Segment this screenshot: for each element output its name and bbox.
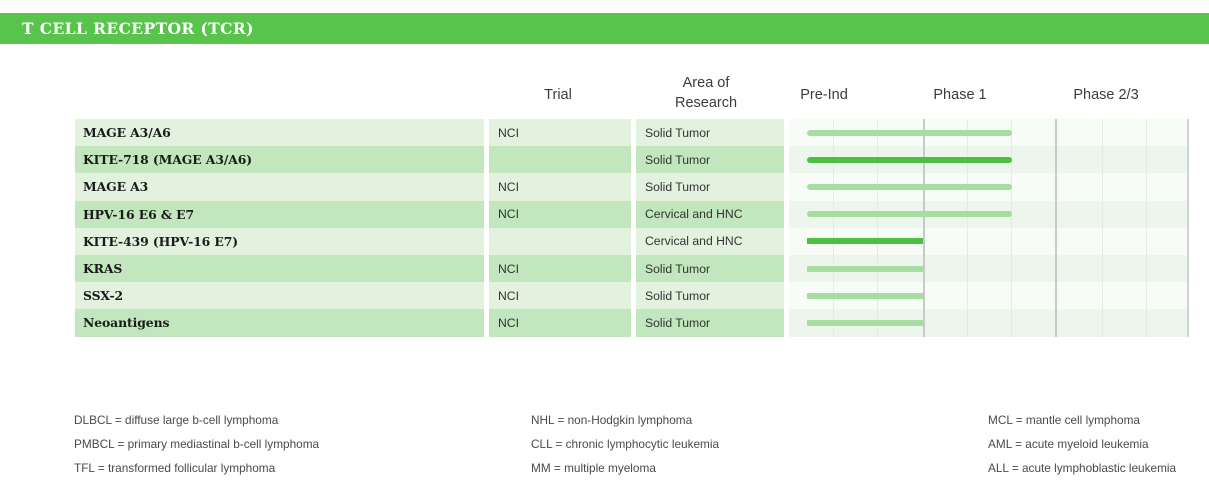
- table-row: MAGE A3NCISolid Tumor: [75, 173, 1189, 200]
- trial-cell: NCI: [489, 119, 631, 146]
- gridline: [1102, 255, 1103, 282]
- phase-progress-cell: [789, 282, 1189, 309]
- footnote-item: MM = multiple myeloma: [531, 456, 719, 480]
- footnote-item: CLL = chronic lymphocytic leukemia: [531, 432, 719, 456]
- area-of-research-cell: Solid Tumor: [636, 255, 784, 282]
- footnote-item: NHL = non-Hodgkin lymphoma: [531, 408, 719, 432]
- footnote-item: AML = acute myeloid leukemia: [988, 432, 1176, 456]
- phase-boundary-line: [923, 228, 925, 255]
- footnote-item: MCL = mantle cell lymphoma: [988, 408, 1176, 432]
- phase-progress-cell: [789, 228, 1189, 255]
- table-row: MAGE A3/A6NCISolid Tumor: [75, 119, 1189, 146]
- gridline: [1102, 146, 1103, 173]
- phase-progress-cell: [789, 119, 1189, 146]
- progress-bar: [807, 211, 1013, 217]
- gridline: [1146, 173, 1147, 200]
- trial-cell: NCI: [489, 173, 631, 200]
- program-name-cell: Neoantigens: [75, 309, 484, 336]
- gridline: [1102, 201, 1103, 228]
- footnote-item: ALL = acute lymphoblastic leukemia: [988, 456, 1176, 480]
- program-name-cell: HPV-16 E6 & E7: [75, 201, 484, 228]
- table-row: KITE-439 (HPV-16 E7)Cervical and HNC: [75, 228, 1189, 255]
- trial-cell: NCI: [489, 201, 631, 228]
- progress-bar: [807, 293, 923, 299]
- trial-cell: NCI: [489, 255, 631, 282]
- trial-cell: [489, 228, 631, 255]
- footnote-item: PMBCL = primary mediastinal b-cell lymph…: [74, 432, 319, 456]
- footnote-column-2: NHL = non-Hodgkin lymphoma CLL = chronic…: [531, 408, 719, 481]
- phase-progress-cell: [789, 255, 1189, 282]
- gridline: [1102, 119, 1103, 146]
- phase-boundary-line: [923, 255, 925, 282]
- footnote-item: TFL = transformed follicular lymphoma: [74, 456, 319, 480]
- program-title-bar: T CELL RECEPTOR (TCR): [0, 13, 1209, 44]
- phase-progress-cell: [789, 146, 1189, 173]
- gridline: [1146, 255, 1147, 282]
- phase-boundary-line: [1055, 146, 1057, 173]
- progress-bar: [807, 184, 1013, 190]
- pipeline-table: MAGE A3/A6NCISolid TumorKITE-718 (MAGE A…: [75, 119, 1189, 337]
- gridline: [967, 282, 968, 309]
- table-row: NeoantigensNCISolid Tumor: [75, 309, 1189, 336]
- area-of-research-cell: Solid Tumor: [636, 119, 784, 146]
- footnote-column-1: DLBCL = diffuse large b-cell lymphoma PM…: [74, 408, 319, 481]
- trial-cell: NCI: [489, 282, 631, 309]
- area-of-research-cell: Cervical and HNC: [636, 201, 784, 228]
- progress-bar: [807, 130, 1013, 136]
- gridline: [1102, 309, 1103, 336]
- progress-bar: [807, 320, 923, 326]
- progress-bar: [807, 266, 923, 272]
- program-name-cell: MAGE A3: [75, 173, 484, 200]
- program-name-cell: KITE-718 (MAGE A3/A6): [75, 146, 484, 173]
- area-of-research-cell: Solid Tumor: [636, 309, 784, 336]
- gridline: [1011, 255, 1012, 282]
- phase-boundary-line: [923, 309, 925, 336]
- column-header-row: Trial Area of Research Pre-Ind Phase 1 P…: [0, 62, 1209, 114]
- phase-boundary-line: [1055, 309, 1057, 336]
- gridline: [1146, 146, 1147, 173]
- area-of-research-cell: Solid Tumor: [636, 173, 784, 200]
- column-header-trial: Trial: [488, 85, 628, 106]
- gridline: [1011, 309, 1012, 336]
- program-name-cell: SSX-2: [75, 282, 484, 309]
- program-name-cell: KRAS: [75, 255, 484, 282]
- program-name-cell: KITE-439 (HPV-16 E7): [75, 228, 484, 255]
- column-header-phase-2-3: Phase 2/3: [1036, 85, 1176, 106]
- table-row: HPV-16 E6 & E7NCICervical and HNC: [75, 201, 1189, 228]
- footnote-column-3: MCL = mantle cell lymphoma AML = acute m…: [988, 408, 1176, 481]
- phase-boundary-line: [1055, 201, 1057, 228]
- gridline: [1146, 309, 1147, 336]
- phase-boundary-line: [1055, 255, 1057, 282]
- gridline: [1102, 282, 1103, 309]
- column-header-pre-ind: Pre-Ind: [754, 85, 894, 106]
- gridline: [967, 309, 968, 336]
- gridline: [1146, 282, 1147, 309]
- gridline: [1146, 201, 1147, 228]
- phase-progress-cell: [789, 201, 1189, 228]
- gridline: [967, 228, 968, 255]
- gridline: [967, 255, 968, 282]
- phase-boundary-line: [1055, 119, 1057, 146]
- gridline: [1011, 228, 1012, 255]
- gridline: [1146, 119, 1147, 146]
- phase-boundary-line: [923, 282, 925, 309]
- gridline: [1011, 282, 1012, 309]
- trial-cell: [489, 146, 631, 173]
- progress-bar: [807, 157, 1013, 163]
- area-of-research-cell: Solid Tumor: [636, 146, 784, 173]
- phase-progress-cell: [789, 309, 1189, 336]
- area-of-research-cell: Cervical and HNC: [636, 228, 784, 255]
- page-title: T CELL RECEPTOR (TCR): [0, 19, 254, 38]
- trial-cell: NCI: [489, 309, 631, 336]
- progress-bar: [807, 238, 923, 244]
- table-row: KRASNCISolid Tumor: [75, 255, 1189, 282]
- table-row: KITE-718 (MAGE A3/A6)Solid Tumor: [75, 146, 1189, 173]
- table-row: SSX-2NCISolid Tumor: [75, 282, 1189, 309]
- gridline: [1146, 228, 1147, 255]
- gridline: [1102, 173, 1103, 200]
- gridline: [1102, 228, 1103, 255]
- phase-boundary-line: [1055, 282, 1057, 309]
- phase-progress-cell: [789, 173, 1189, 200]
- phase-boundary-line: [1055, 228, 1057, 255]
- phase-boundary-line: [1055, 173, 1057, 200]
- column-header-phase-1: Phase 1: [890, 85, 1030, 106]
- footnote-item: DLBCL = diffuse large b-cell lymphoma: [74, 408, 319, 432]
- program-name-cell: MAGE A3/A6: [75, 119, 484, 146]
- area-of-research-cell: Solid Tumor: [636, 282, 784, 309]
